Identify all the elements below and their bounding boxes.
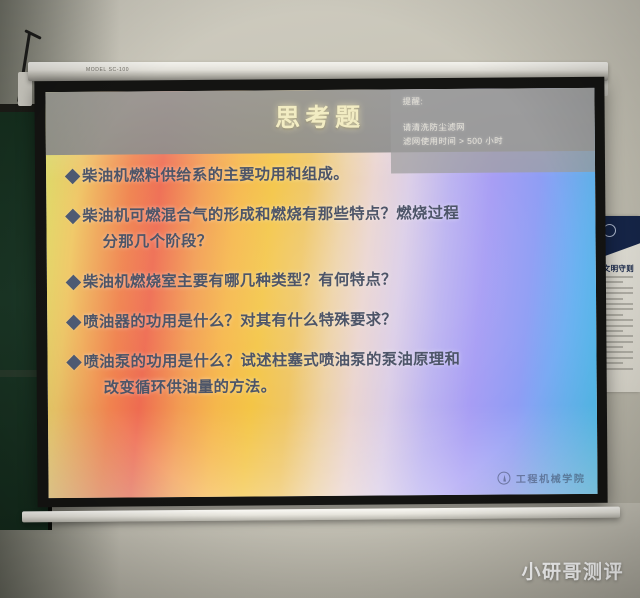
bullet-line-1: 柴油机燃料供给系的主要功用和组成。	[82, 166, 349, 185]
bullet-text: 柴油机燃料供给系的主要功用和组成。	[82, 162, 349, 190]
osd-header: 提醒:	[402, 94, 586, 107]
bullet-line-1: 喷油器的功用是什么？对其有什么特殊要求？	[83, 311, 397, 330]
slide-bullet-list: 柴油机燃料供给系的主要功用和组成。 柴油机可燃混合气的形成和燃烧有那些特点？燃烧…	[67, 160, 583, 416]
projection-screen-frame: 思考题 提醒: 请清洗防尘滤网 滤网使用时间 > 500 小时 柴油机燃料供给系…	[34, 77, 607, 507]
university-emblem-icon	[498, 472, 511, 485]
bullet-text: 喷油泵的功用是什么？试述柱塞式喷油泵的泵油原理和 改变循环供油量的方法。	[83, 347, 460, 402]
list-item: 柴油机燃烧室主要有哪几种类型？有何特点？	[68, 266, 582, 296]
osd-message-line-2: 滤网使用时间 > 500 小时	[403, 134, 587, 147]
bullet-line-1: 柴油机燃烧室主要有哪几种类型？有何特点？	[83, 271, 397, 290]
list-item: 喷油器的功用是什么？对其有什么特殊要求？	[68, 306, 582, 336]
bullet-line-2: 分那几个阶段？	[83, 227, 460, 256]
list-item: 柴油机可燃混合气的形成和燃烧有那些特点？燃烧过程 分那几个阶段？	[67, 200, 581, 256]
photo-watermark: 小研哥测评	[521, 557, 624, 584]
housing-model-label: MODEL SC-100	[86, 67, 129, 73]
slide-footer-logo: 工程机械学院	[498, 470, 586, 486]
diamond-bullet-icon	[65, 169, 81, 185]
diamond-bullet-icon	[66, 275, 82, 291]
bullet-text: 喷油器的功用是什么？对其有什么特殊要求？	[83, 307, 397, 335]
bullet-text: 柴油机燃烧室主要有哪几种类型？有何特点？	[83, 267, 397, 295]
bullet-text: 柴油机可燃混合气的形成和燃烧有那些特点？燃烧过程 分那几个阶段？	[82, 201, 459, 256]
diamond-bullet-icon	[66, 355, 82, 371]
slide-footer-logo-text: 工程机械学院	[516, 470, 586, 486]
osd-message-line-1: 请清洗防尘滤网	[403, 120, 587, 133]
list-item: 喷油泵的功用是什么？试述柱塞式喷油泵的泵油原理和 改变循环供油量的方法。	[68, 346, 582, 402]
bullet-line-1: 喷油泵的功用是什么？试述柱塞式喷油泵的泵油原理和	[83, 351, 460, 371]
bullet-line-2: 改变循环供油量的方法。	[84, 373, 461, 402]
diamond-bullet-icon	[66, 315, 82, 331]
list-item: 柴油机燃料供给系的主要功用和组成。	[67, 160, 581, 190]
classroom-scene: 室文明守则 MODEL SC-100 思考题 提醒: 请清洗防尘滤网 滤网使用	[0, 0, 640, 598]
diamond-bullet-icon	[65, 209, 81, 225]
projection-screen-surface: 思考题 提醒: 请清洗防尘滤网 滤网使用时间 > 500 小时 柴油机燃料供给系…	[45, 88, 597, 498]
bullet-line-1: 柴油机可燃混合气的形成和燃烧有那些特点？燃烧过程	[82, 205, 459, 225]
